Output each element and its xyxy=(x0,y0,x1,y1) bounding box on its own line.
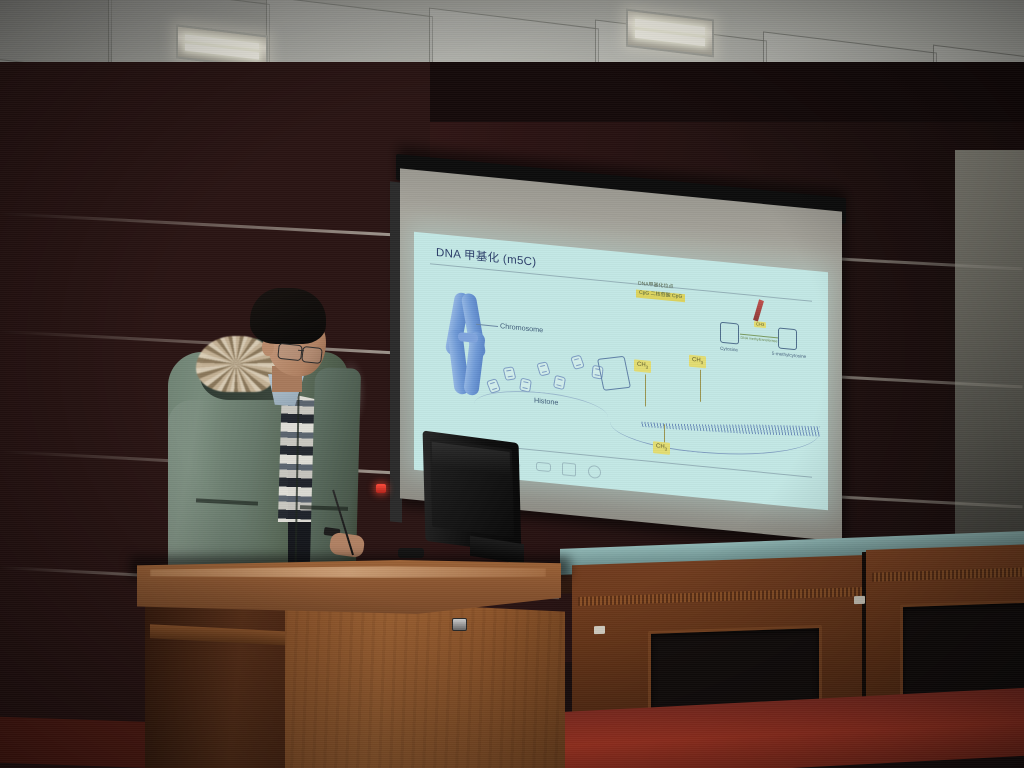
cpg-highlight: CpG 二核苷酸 CpG xyxy=(636,289,685,301)
cytosine-label: Cytosine xyxy=(710,345,748,354)
eyeglasses-lens xyxy=(301,346,323,364)
methyl-stem xyxy=(700,370,701,402)
methylcytosine-label: 5-methylcytosine xyxy=(764,350,814,360)
desk-outlet[interactable] xyxy=(594,626,605,634)
desk-outlet[interactable] xyxy=(854,596,865,604)
hair xyxy=(250,288,326,344)
sam-donor-arrow xyxy=(753,299,764,321)
lecture-hall-photo: DNA 甲基化 (m5C) Chromosome Histone xyxy=(0,0,1024,768)
cytosine-ring xyxy=(720,322,739,345)
methyl-stem xyxy=(645,374,646,406)
chromatin-fiber xyxy=(474,386,608,436)
podium-wood-grain xyxy=(285,598,565,768)
histone-bead xyxy=(570,355,585,370)
chromosome-graphic xyxy=(448,291,488,395)
methyl-group-ch3: CH3 xyxy=(653,441,670,454)
highlighter-icon[interactable] xyxy=(536,462,551,472)
nucleosome-unwinding xyxy=(597,356,631,391)
slide-icon[interactable] xyxy=(562,462,576,476)
methyl-group-ch3: CH3 xyxy=(689,355,706,368)
transferred-methyl: CH3 xyxy=(754,321,766,328)
histone-bead xyxy=(503,366,517,381)
methyl-group-ch3: CH3 xyxy=(634,359,651,372)
settings-icon[interactable] xyxy=(588,465,601,479)
histone-bead xyxy=(553,375,566,391)
microphone-indicator-light xyxy=(376,484,386,493)
methylation-site-caption: DNA甲基化位点 xyxy=(638,280,674,290)
chromosome-label: Chromosome xyxy=(500,321,543,334)
histone-bead xyxy=(536,361,550,376)
eyeglasses-lens xyxy=(277,343,303,361)
podium-lock[interactable] xyxy=(452,618,467,631)
